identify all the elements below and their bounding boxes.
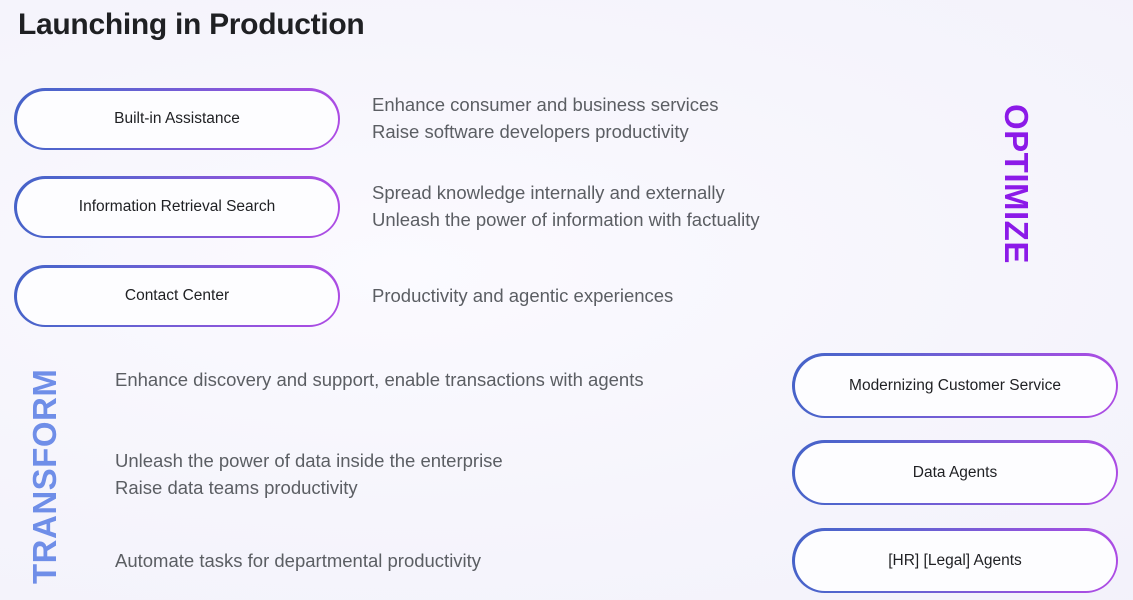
description-data-agents: Unleash the power of data inside the ent…: [115, 448, 745, 501]
pill-hr-legal-agents[interactable]: [HR] [Legal] Agents: [792, 528, 1118, 593]
page-title: Launching in Production: [18, 8, 364, 42]
pill-data-agents-label: Data Agents: [795, 443, 1116, 503]
description-hr-legal-agents: Automate tasks for departmental producti…: [115, 548, 745, 575]
pill-information-retrieval-search-label: Information Retrieval Search: [17, 179, 338, 236]
pill-information-retrieval-search[interactable]: Information Retrieval Search: [14, 176, 340, 238]
description-information-retrieval-search: Spread knowledge internally and external…: [372, 180, 952, 233]
pill-contact-center-label: Contact Center: [17, 268, 338, 325]
pill-contact-center[interactable]: Contact Center: [14, 265, 340, 327]
pill-modernizing-customer-service[interactable]: Modernizing Customer Service: [792, 353, 1118, 418]
pill-built-in-assistance[interactable]: Built-in Assistance: [14, 88, 340, 150]
rail-label-optimize: OPTIMIZE: [997, 104, 1035, 264]
pill-data-agents[interactable]: Data Agents: [792, 440, 1118, 505]
pill-hr-legal-agents-label: [HR] [Legal] Agents: [795, 531, 1116, 591]
rail-label-transform: TRANSFORM: [26, 369, 64, 584]
slide-canvas: Launching in Production Built-in Assista…: [0, 0, 1133, 600]
description-built-in-assistance: Enhance consumer and business services R…: [372, 92, 932, 145]
description-modernizing-customer-service: Enhance discovery and support, enable tr…: [115, 367, 745, 394]
pill-modernizing-customer-service-label: Modernizing Customer Service: [795, 356, 1116, 416]
pill-built-in-assistance-label: Built-in Assistance: [17, 91, 338, 148]
description-contact-center: Productivity and agentic experiences: [372, 283, 932, 310]
